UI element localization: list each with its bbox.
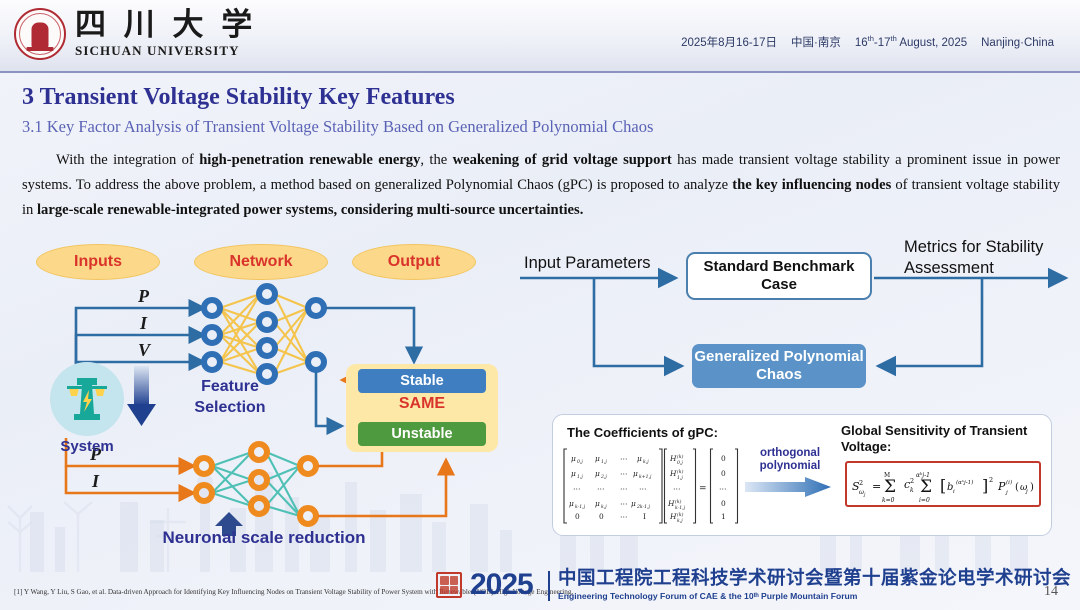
svg-text:2: 2 <box>910 477 914 485</box>
signal-label-i-bottom: I <box>92 471 99 492</box>
svg-text:μ: μ <box>571 469 576 478</box>
footer-divider <box>548 571 550 601</box>
body-paragraph: With the integration of high-penetration… <box>22 148 1060 223</box>
svg-text:⋯: ⋯ <box>673 484 680 493</box>
svg-text:0: 0 <box>721 454 726 463</box>
left-method-diagram: Inputs Network Output <box>16 238 516 568</box>
svg-text:k=0: k=0 <box>882 497 895 504</box>
page-subtitle: 3.1 Key Factor Analysis of Transient Vol… <box>22 117 653 137</box>
svg-text:(k): (k) <box>675 498 682 505</box>
svg-text:j: j <box>863 492 866 498</box>
footer-band: 2025 中国工程院工程科技学术研讨会暨第十届紫金论电学术研讨会 Enginee… <box>0 564 1080 610</box>
svg-text:⋯: ⋯ <box>620 454 627 463</box>
svg-text:[: [ <box>940 476 946 495</box>
university-logo: 四 川 大 学 SICHUAN UNIVERSITY <box>14 8 257 60</box>
gpc-matrix-equation: μ0,j μ1,j ⋯ μk,j μ1,j μ2,j ⋯ μk+1,j ⋯⋯ ⋯… <box>563 445 743 527</box>
conference-location-cn: 中国·南京 <box>791 34 841 50</box>
slide-root: 四 川 大 学 SICHUAN UNIVERSITY 2025年8月16-17日… <box>0 0 1080 610</box>
svg-text:H: H <box>667 499 675 508</box>
coefficients-heading: The Coefficients of gPC: <box>567 425 718 440</box>
right-method-diagram: Input Parameters Standard Benchmark Case… <box>516 232 1072 552</box>
svg-text:0,j: 0,j <box>577 459 583 465</box>
signal-label-i-top: I <box>140 313 147 334</box>
input-parameters-label: Input Parameters <box>524 254 651 273</box>
svg-text:2: 2 <box>859 479 863 487</box>
university-name-cn: 四 川 大 学 <box>75 9 257 42</box>
svg-text:⋯: ⋯ <box>597 484 604 493</box>
signal-label-v-top: V <box>138 340 150 361</box>
svg-text:Σ: Σ <box>920 477 932 497</box>
svg-text:Σ: Σ <box>884 477 896 497</box>
conference-meta: 2025年8月16-17日 中国·南京 16th-17th August, 20… <box>681 34 1054 50</box>
sensitivity-formula: S 2 ωj = Σ M k=0 c 2 k Σ αᵏj-1 i=0 [ <box>848 464 1038 504</box>
svg-text:⋯: ⋯ <box>620 484 627 493</box>
svg-text:μ: μ <box>631 499 636 508</box>
power-system-icon <box>50 362 124 436</box>
neuronal-reduction-label: Neuronal scale reduction <box>134 528 394 548</box>
svg-text:⋯: ⋯ <box>719 484 726 493</box>
svg-text:i=0: i=0 <box>919 497 930 504</box>
svg-text:(k): (k) <box>677 453 684 460</box>
signal-label-p-top: P <box>138 286 149 307</box>
svg-text:0: 0 <box>721 499 726 508</box>
svg-text:): ) <box>1030 482 1034 493</box>
svg-text:(αᵏj-1): (αᵏj-1) <box>956 479 973 486</box>
forum-seal-icon <box>436 572 462 598</box>
svg-text:1: 1 <box>721 512 726 521</box>
svg-text:0: 0 <box>599 512 604 521</box>
svg-text:1,j: 1,j <box>577 474 583 480</box>
university-name-en: SICHUAN UNIVERSITY <box>75 43 257 59</box>
same-label: SAME <box>346 395 498 413</box>
svg-text:I: I <box>643 512 646 521</box>
svg-text:0: 0 <box>721 469 726 478</box>
conference-date-en: 16th-17th August, 2025 <box>855 34 967 49</box>
orthogonal-arrow-icon <box>745 477 831 497</box>
svg-text:(i): (i) <box>1006 479 1012 486</box>
svg-text:H: H <box>669 512 677 521</box>
chip-stable: Stable <box>358 369 486 393</box>
svg-text:k+1,j: k+1,j <box>639 474 652 480</box>
svg-text:=: = <box>699 484 707 494</box>
math-panel: The Coefficients of gPC: μ0,j μ1,j ⋯ μk,… <box>552 414 1052 536</box>
svg-text:⋯: ⋯ <box>573 484 580 493</box>
svg-text:⋯: ⋯ <box>639 484 646 493</box>
svg-text:k-1,j: k-1,j <box>575 504 586 510</box>
svg-text:k,j: k,j <box>643 459 649 465</box>
svg-text:μ: μ <box>571 454 576 463</box>
svg-text:P: P <box>997 480 1006 493</box>
svg-text:μ: μ <box>595 454 600 463</box>
svg-text:1,j: 1,j <box>601 459 607 465</box>
svg-text:⋯: ⋯ <box>620 512 627 521</box>
page-number: 14 <box>1044 584 1058 600</box>
svg-text:μ: μ <box>595 469 600 478</box>
standard-benchmark-box: Standard Benchmark Case <box>686 252 872 300</box>
svg-text:2: 2 <box>989 476 993 484</box>
sensitivity-formula-box: S 2 ωj = Σ M k=0 c 2 k Σ αᵏj-1 i=0 [ <box>845 461 1041 507</box>
svg-text:(k): (k) <box>677 511 684 518</box>
svg-text:μ: μ <box>569 499 574 508</box>
page-title: 3 Transient Voltage Stability Key Featur… <box>22 84 455 111</box>
system-label: System <box>40 438 134 455</box>
svg-text:k-1,j: k-1,j <box>675 505 686 511</box>
feature-selection-arrow <box>127 366 156 426</box>
footer-year: 2025 <box>470 568 533 602</box>
svg-text:(: ( <box>1015 482 1019 493</box>
transmission-tower-icon <box>65 374 109 424</box>
slide-header: 四 川 大 学 SICHUAN UNIVERSITY 2025年8月16-17日… <box>0 0 1080 73</box>
svg-text:H: H <box>669 469 677 478</box>
svg-text:k,j: k,j <box>601 504 607 510</box>
svg-text:2,j: 2,j <box>600 474 607 480</box>
svg-text:⋯: ⋯ <box>620 499 627 508</box>
svg-text:1,j: 1,j <box>677 475 683 481</box>
forum-title-en: Engineering Technology Forum of CAE & th… <box>558 591 857 601</box>
svg-text:2k-1,j: 2k-1,j <box>636 504 651 510</box>
classification-result-card: Stable SAME Unstable <box>346 364 498 452</box>
svg-text:αᵏj-1: αᵏj-1 <box>916 472 930 479</box>
svg-text:k: k <box>910 487 914 494</box>
svg-text:0: 0 <box>575 512 580 521</box>
forum-title-cn: 中国工程院工程科技学术研讨会暨第十届紫金论电学术研讨会 <box>558 564 1071 590</box>
chip-unstable: Unstable <box>358 422 486 446</box>
svg-text:]: ] <box>982 476 988 495</box>
orthogonal-polynomial-label: orthogonal polynomial <box>749 447 831 473</box>
svg-text:0,j: 0,j <box>677 460 683 466</box>
svg-text:μ: μ <box>633 469 638 478</box>
svg-text:⋯: ⋯ <box>620 469 627 478</box>
svg-text:M: M <box>884 472 890 479</box>
global-sensitivity-heading: Global Sensitivity of Transient Voltage: <box>841 423 1031 455</box>
svg-text:=: = <box>872 480 881 493</box>
metrics-label: Metrics for Stability Assessment <box>904 237 1074 279</box>
university-seal-icon <box>14 8 66 60</box>
svg-text:μ: μ <box>637 454 642 463</box>
svg-text:i: i <box>953 489 955 495</box>
conference-location-en: Nanjing·China <box>981 37 1054 49</box>
feature-selection-label: Feature Selection <box>176 376 284 418</box>
svg-text:H: H <box>669 454 677 463</box>
svg-text:k,j: k,j <box>677 518 683 524</box>
conference-date-cn: 2025年8月16-17日 <box>681 34 777 50</box>
svg-text:(k): (k) <box>677 468 684 475</box>
svg-text:μ: μ <box>595 499 600 508</box>
gpc-box: Generalized Polynomial Chaos <box>692 344 866 388</box>
